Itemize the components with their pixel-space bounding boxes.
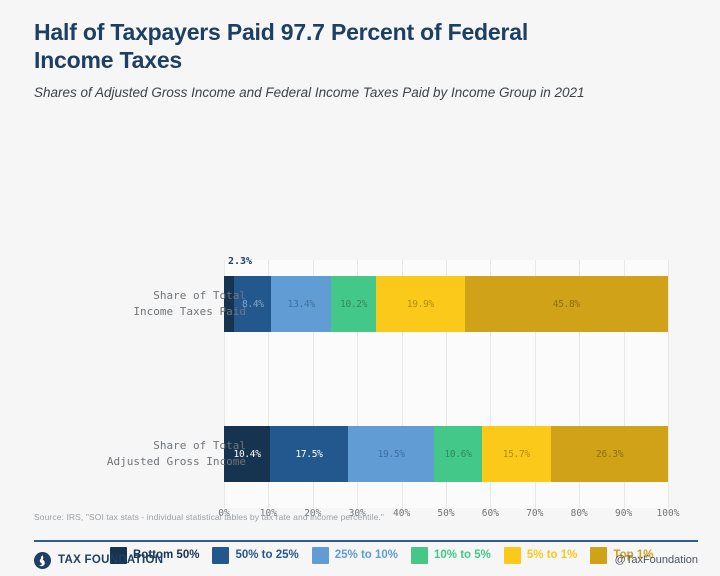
source-note: Source: IRS, "SOI tax stats - individual…	[34, 512, 384, 522]
brand: TAX FOUNDATION	[34, 552, 163, 569]
plot-area: 8.4%13.4%10.2%19.9%45.8%10.4%17.5%19.5%1…	[0, 102, 720, 576]
bar-segment[interactable]: 13.4%	[271, 276, 330, 332]
chart-card: Half of Taxpayers Paid 97.7 Percent of F…	[0, 0, 720, 576]
bar-segment[interactable]: 19.9%	[376, 276, 464, 332]
footer-divider	[34, 540, 698, 542]
gridline	[668, 260, 669, 508]
chart-footer: TAX FOUNDATION @TaxFoundation	[34, 549, 698, 571]
x-axis-tick: 80%	[571, 508, 588, 519]
x-axis-tick: 90%	[615, 508, 632, 519]
bar-row: 8.4%13.4%10.2%19.9%45.8%	[224, 276, 668, 332]
bar-segment[interactable]: 17.5%	[270, 426, 348, 482]
bar-segment[interactable]: 15.7%	[482, 426, 552, 482]
bar-segment[interactable]: 26.3%	[551, 426, 668, 482]
chart-header: Half of Taxpayers Paid 97.7 Percent of F…	[0, 0, 720, 102]
category-label: Share of Total Income Taxes Paid	[66, 288, 246, 320]
tax-foundation-logo-icon	[34, 552, 51, 569]
brand-name: TAX FOUNDATION	[58, 554, 163, 566]
stacked-bar: 8.4%13.4%10.2%19.9%45.8%	[224, 276, 668, 332]
x-axis-tick: 60%	[482, 508, 499, 519]
bar-callout-label: 2.3%	[228, 256, 252, 267]
social-handle[interactable]: @TaxFoundation	[615, 554, 698, 566]
bar-row: 10.4%17.5%19.5%10.6%15.7%26.3%	[224, 426, 668, 482]
x-axis-tick: 100%	[657, 508, 680, 519]
chart-subtitle: Shares of Adjusted Gross Income and Fede…	[34, 84, 659, 102]
page-title: Half of Taxpayers Paid 97.7 Percent of F…	[34, 18, 554, 74]
category-label: Share of Total Adjusted Gross Income	[66, 438, 246, 470]
bar-segment[interactable]: 10.2%	[331, 276, 376, 332]
stacked-bar-chart: 8.4%13.4%10.2%19.9%45.8%10.4%17.5%19.5%1…	[224, 260, 668, 508]
bar-segment[interactable]: 10.6%	[434, 426, 481, 482]
stacked-bar: 10.4%17.5%19.5%10.6%15.7%26.3%	[224, 426, 668, 482]
x-axis-tick: 50%	[437, 508, 454, 519]
x-axis-tick: 70%	[526, 508, 543, 519]
bar-segment[interactable]: 45.8%	[465, 276, 668, 332]
x-axis-tick: 40%	[393, 508, 410, 519]
bar-segment[interactable]: 19.5%	[348, 426, 435, 482]
